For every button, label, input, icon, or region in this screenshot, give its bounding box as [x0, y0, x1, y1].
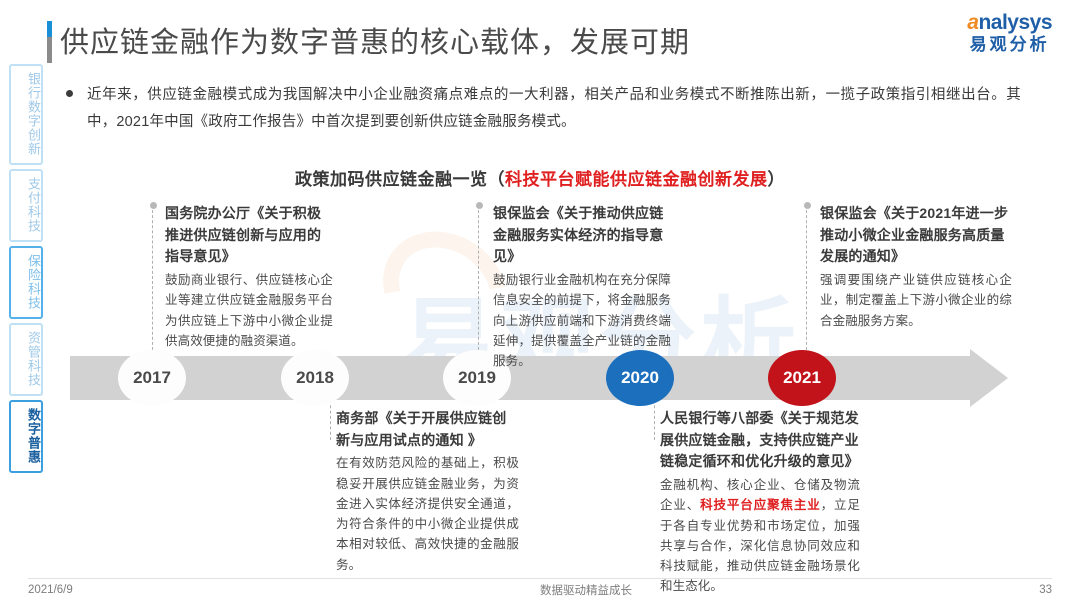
bullet-dot-icon: [66, 90, 73, 97]
card-heading-2018: 商务部《关于开展供应链创新与应用试点的通知 》: [336, 408, 519, 451]
footer-date: 2021/6/9: [28, 584, 73, 596]
logo-letter-a: a: [967, 11, 978, 34]
timeline-card-2019: 银保监会《关于推动供应链金融服务实体经济的指导意见》 鼓励银行业金融机构在充分保…: [493, 203, 671, 371]
card-body-2021: 强调要围绕产业链供应链核心企业，制定覆盖上下游小微企业的综合金融服务方案。: [820, 270, 1012, 331]
connector-dot-2021: [804, 202, 811, 209]
card-heading-2017: 国务院办公厅《关于积极推进供应链创新与应用的指导意见》: [165, 203, 333, 268]
sidebar: 银行数字创新 支付科技 保险科技 资管科技 数字普惠: [8, 64, 44, 473]
card-body-2019: 鼓励银行业金融机构在充分保障信息安全的前提下，将金融服务向上游供应前端和下游消费…: [493, 270, 671, 371]
connector-2021: [806, 205, 807, 355]
card-body-2020-post: ，立足于各自专业优势和市场定位，加强共享与合作，深化信息协同效应和科技赋能，推动…: [660, 498, 860, 593]
bullet-text: 近年来，供应链金融模式成为我国解决中小企业融资痛点难点的一大利器，相关产品和业务…: [87, 82, 1021, 136]
chart-title: 政策加码供应链金融一览（科技平台赋能供应链金融创新发展）: [0, 165, 1080, 190]
chart-title-main: 政策加码供应链金融一览: [295, 170, 488, 189]
chart-title-paren-open: （: [488, 170, 506, 189]
bullet-paragraph: 近年来，供应链金融模式成为我国解决中小企业融资痛点难点的一大利器，相关产品和业务…: [66, 82, 1021, 136]
footer-divider: [28, 578, 1052, 579]
chart-title-paren-close: ）: [768, 170, 786, 189]
card-body-2020-highlight: 科技平台应聚焦主业: [700, 498, 820, 512]
logo-chinese-name: 易观分析: [967, 36, 1052, 53]
logo-word-rest: nalysys: [978, 11, 1052, 34]
timeline-card-2017: 国务院办公厅《关于积极推进供应链创新与应用的指导意见》 鼓励商业银行、供应链核心…: [165, 203, 333, 351]
title-accent-bar: [47, 21, 52, 63]
timeline-card-2021: 银保监会《关于2021年进一步推动小微企业金融服务高质量发展的通知》 强调要围绕…: [820, 203, 1012, 331]
connector-2018: [330, 400, 331, 440]
card-body-2017: 鼓励商业银行、供应链核心企业等建立供应链金融服务平台为供应链上下游中小微企业提供…: [165, 270, 333, 351]
sidebar-item-asset-management-tech[interactable]: 资管科技: [9, 323, 43, 396]
footer-tagline: 数据驱动精益成长: [73, 582, 1039, 598]
timeline-card-2020: 人民银行等八部委《关于规范发展供应链金融，支持供应链产业链稳定循环和优化升级的意…: [660, 408, 860, 597]
logo-wordmark: analysys: [967, 12, 1052, 33]
connector-dot-2017: [150, 202, 157, 209]
timeline-node-2018[interactable]: 2018: [281, 350, 349, 406]
connector-2017: [152, 205, 153, 355]
analysys-logo: analysys 易观分析: [967, 12, 1052, 53]
footer: 2021/6/9 数据驱动精益成长 33: [28, 582, 1052, 598]
card-heading-2021: 银保监会《关于2021年进一步推动小微企业金融服务高质量发展的通知》: [820, 203, 1012, 268]
slide-page: 易观分析 供应链金融作为数字普惠的核心载体，发展可期 analysys 易观分析…: [0, 0, 1080, 608]
timeline-arrowhead-icon: [970, 349, 1008, 407]
chart-title-highlight: 科技平台赋能供应链金融创新发展: [505, 170, 768, 189]
footer-page-number: 33: [1039, 584, 1052, 596]
connector-2020: [654, 400, 655, 440]
sidebar-item-insurance-tech[interactable]: 保险科技: [9, 246, 43, 319]
card-heading-2020: 人民银行等八部委《关于规范发展供应链金融，支持供应链产业链稳定循环和优化升级的意…: [660, 408, 860, 473]
page-title: 供应链金融作为数字普惠的核心载体，发展可期: [60, 19, 690, 61]
sidebar-item-digital-inclusive-finance[interactable]: 数字普惠: [9, 400, 43, 473]
timeline-node-2021[interactable]: 2021: [768, 350, 836, 406]
connector-2019: [478, 205, 479, 355]
card-heading-2019: 银保监会《关于推动供应链金融服务实体经济的指导意见》: [493, 203, 671, 268]
connector-dot-2019: [476, 202, 483, 209]
card-body-2018: 在有效防范风险的基础上，积极稳妥开展供应链金融业务，为资金进入实体经济提供安全通…: [336, 453, 519, 575]
timeline-card-2018: 商务部《关于开展供应链创新与应用试点的通知 》 在有效防范风险的基础上，积极稳妥…: [336, 408, 519, 575]
sidebar-item-bank-digital-innovation[interactable]: 银行数字创新: [9, 64, 43, 165]
timeline-node-2017[interactable]: 2017: [118, 350, 186, 406]
